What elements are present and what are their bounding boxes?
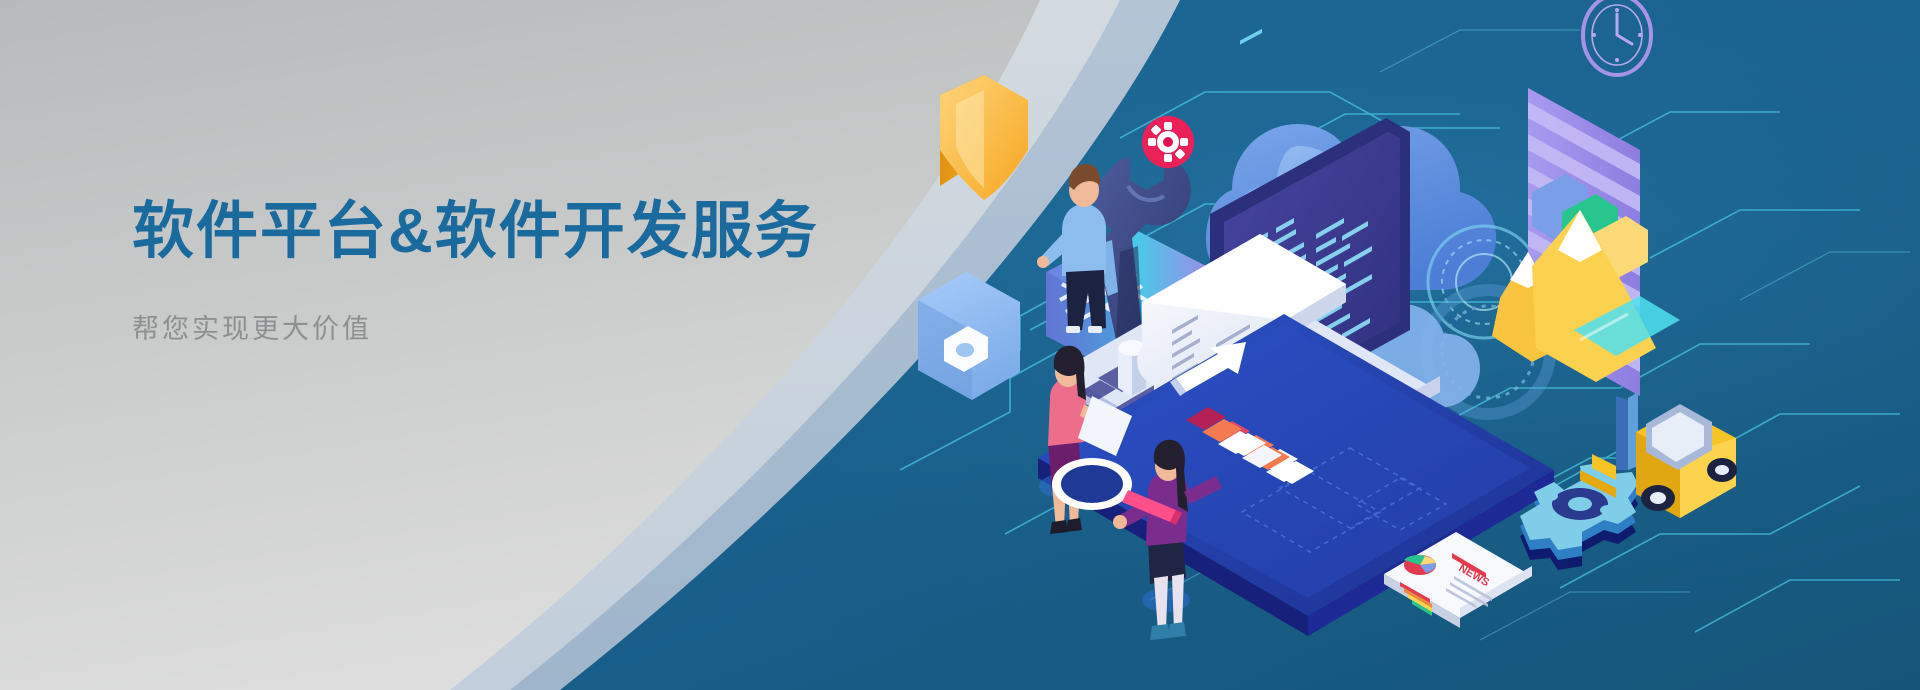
gear-badge-icon bbox=[1142, 116, 1194, 168]
shield-icon bbox=[940, 75, 1028, 200]
hero-banner: 软件平台&软件开发服务 帮您实现更大价值 bbox=[0, 0, 1920, 690]
page-subtitle: 帮您实现更大价值 bbox=[132, 313, 892, 345]
illustration-svg: NEWS bbox=[880, 0, 1920, 690]
mountain-chart-icon bbox=[1492, 210, 1680, 382]
clock-icon bbox=[1583, 0, 1651, 75]
hero-text-block: 软件平台&软件开发服务 帮您实现更大价值 bbox=[132, 196, 892, 346]
hero-illustration: NEWS bbox=[880, 0, 1920, 690]
camera-tile-icon bbox=[918, 272, 1020, 400]
page-title: 软件平台&软件开发服务 bbox=[132, 196, 892, 267]
